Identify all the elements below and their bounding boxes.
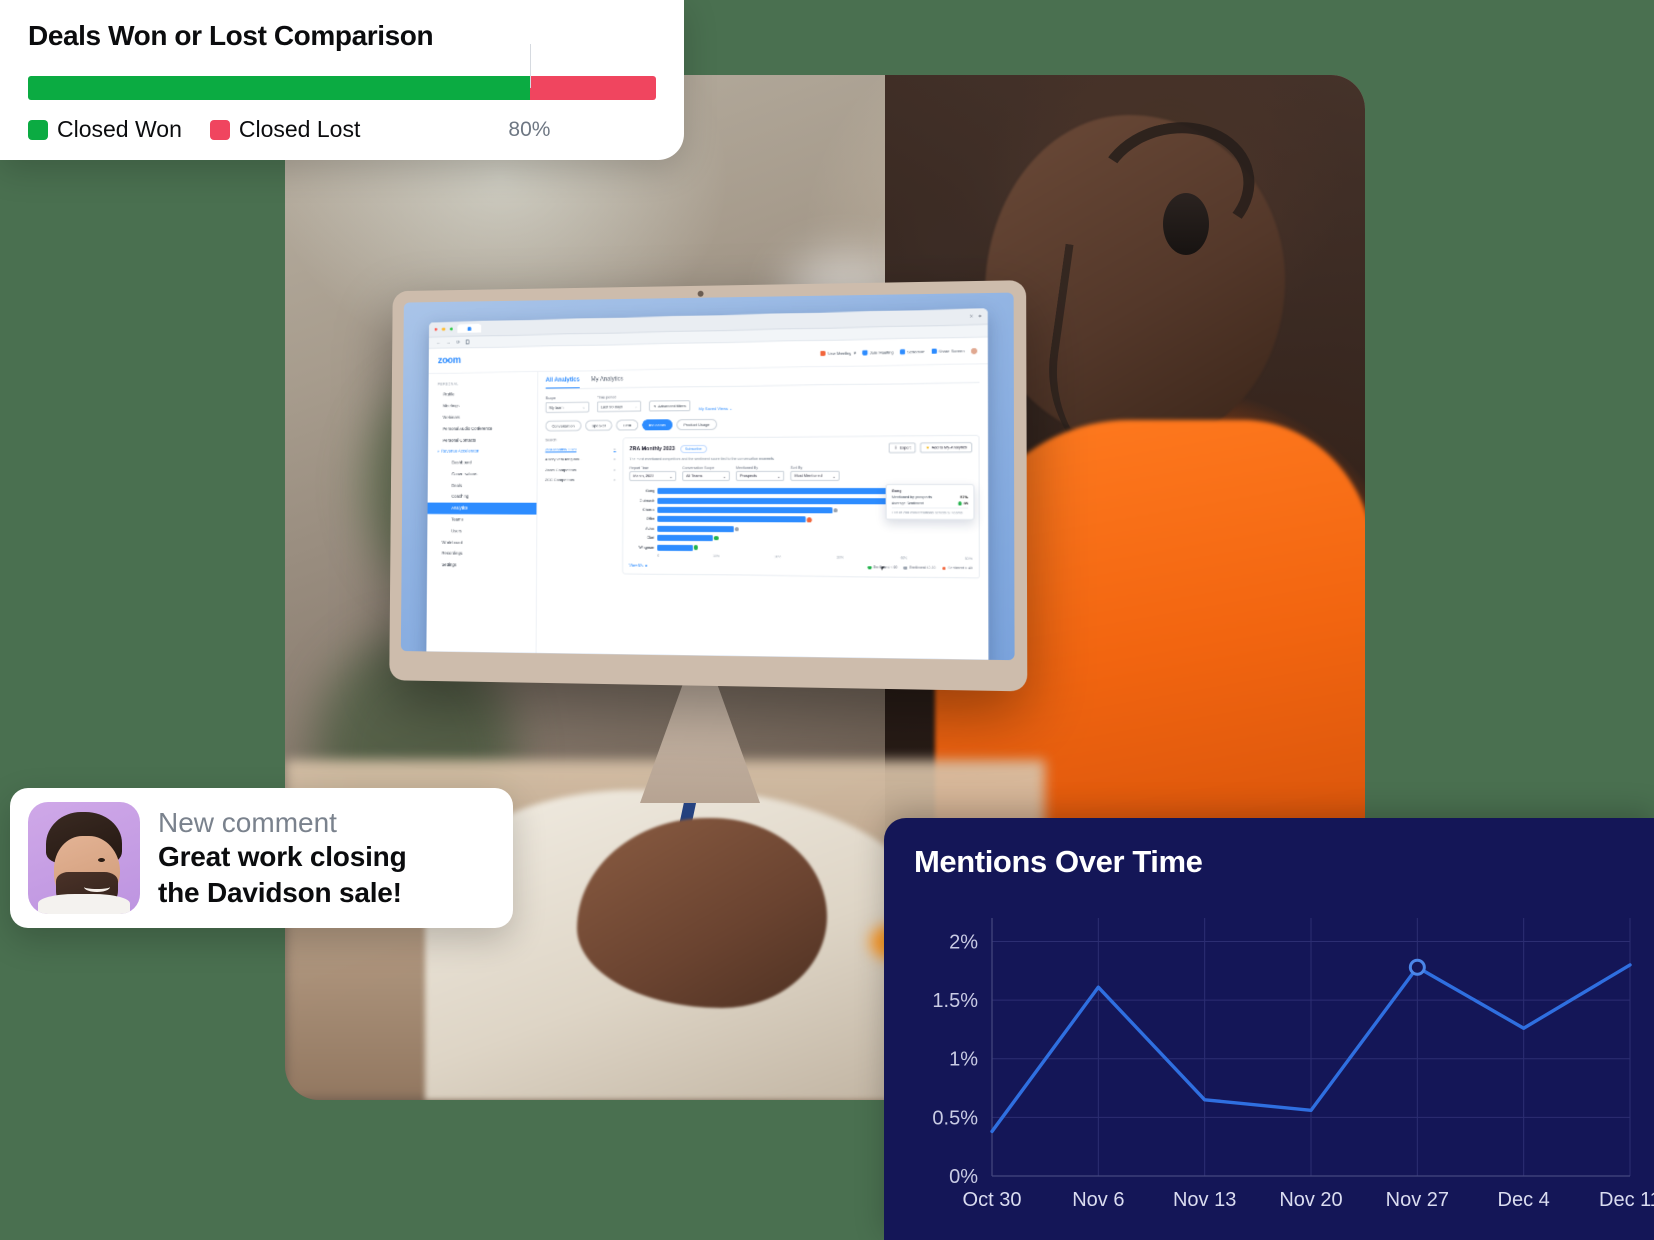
y-axis-tick: 0.5% [932,1107,978,1129]
zoom-web-app-window: × + ← → ⟳ zoom [426,308,988,660]
plus-square-icon [863,350,868,355]
bar-fill [658,497,918,504]
mentioned-by-value: Prospects [740,474,757,478]
close-icon[interactable]: × [614,467,616,472]
new-tab-icon[interactable]: + [978,313,981,319]
join-meeting-label: Join Meeting [870,350,894,356]
tab-close-icon[interactable]: × [970,313,973,319]
conversation-scope-field: Conversation Scope All Teams ⌄ [682,466,730,481]
avatar-shirt [38,894,130,914]
sidebar-item-personal-contacts[interactable]: Personal Contacts [428,433,537,445]
add-to-my-analytics-label: Add to My Analytics [932,445,967,449]
bar-chart-x-axis: 010%20%30%40%50% [629,553,972,561]
chevron-down-icon: ⌄ [723,474,726,479]
sort-by-value: Most Mentioned [795,474,823,478]
app-main: All Analytics My Analytics Scope My team… [536,364,988,660]
sidebar-item-users[interactable]: Users [427,525,536,537]
page-title: Deals Won or Lost Comparison [28,20,656,52]
scope-label: Scope [545,396,589,400]
mentions-line-chart-svg: 0%0.5%1%1.5%2%Oct 30Nov 6Nov 13Nov 20Nov… [914,904,1654,1222]
avatar-eye [98,858,105,862]
chevron-down-icon[interactable]: ∨ [853,350,856,355]
advanced-filters-button[interactable]: ▿ Advanced filters [649,400,691,411]
x-axis-tick: Nov 27 [1386,1189,1449,1211]
sentiment-dot-icon [694,545,698,549]
chip-speaker[interactable]: Speaker [585,420,613,431]
bar-track [657,526,972,534]
x-axis-tick: 40% [900,556,907,560]
y-axis-tick: 2% [949,931,978,953]
bar-row[interactable]: Aviso [629,525,972,533]
sentiment-dot-icon [714,536,718,540]
legend-label: Closed Lost [239,116,360,143]
sidebar-item-whiteboard[interactable]: Whiteboard [427,536,536,548]
avatar-smile [84,882,110,892]
comment-text-block: New comment Great work closing the David… [158,806,406,911]
tab-my-analytics[interactable]: My Analytics [591,377,623,388]
window-close-dot[interactable] [434,328,437,331]
chip-conversation[interactable]: Conversation [545,420,581,431]
chevron-down-icon: ⌄ [669,474,672,479]
analytics-tabs: All Analytics My Analytics [546,371,980,390]
legend-swatch [942,567,946,571]
bar-label: Aviso [629,526,654,530]
report-header: ZRA Monthly 2023 Subscribe ⇩ Export [629,442,972,454]
bar-label: Chorus [629,508,654,512]
report-card: ZRA Monthly 2023 Subscribe ⇩ Export [622,435,980,579]
mentioned-by-field: Mentioned By Prospects ⌄ [736,466,784,482]
sidebar-item-revenue-accelerator[interactable]: ∨Revenue Accelerator [428,445,537,457]
close-icon[interactable]: × [614,457,616,462]
legend-item-closed-lost: Closed Lost [210,116,360,143]
schedule-button[interactable]: Schedule [900,349,925,355]
report-time-field: Report Time March, 2023 ⌄ [629,466,676,481]
legend-swatch [904,566,908,570]
filter-bar: Scope My team ⌄ Time period [545,390,979,412]
chevron-down-icon: ⌄ [634,404,637,409]
export-button[interactable]: ⇩ Export [889,442,916,453]
time-period-field: Time period Last 90 days ⌄ [597,395,642,412]
chip-product-usage[interactable]: Product Usage [677,419,717,430]
bar-fill [657,516,806,523]
report-time-value: March, 2023 [633,474,654,478]
tooltip-sentiment-value: 85 [964,502,968,506]
bar-fill [657,526,733,532]
monitor-camera [698,291,704,297]
sort-by-select[interactable]: Most Mentioned ⌄ [790,471,839,481]
advanced-filters-label: Advanced filters [658,403,686,408]
sentiment-dot-icon [833,508,838,512]
header-actions: New Meeting ∨ Join Meeting Schedule [820,347,977,356]
chevron-down-icon: ⌄ [582,404,585,409]
legend-swatch [28,120,48,140]
chevron-down-icon: ⌄ [832,473,835,478]
close-icon[interactable]: × [614,477,616,482]
share-screen-icon [931,349,936,354]
report-time-label: Report Time [629,466,676,470]
tooltip-row: Average Sentiment 85 [892,501,968,505]
sort-by-field: Sort By Most Mentioned ⌄ [790,465,839,481]
deals-percent-tick [530,44,531,88]
tooltip-note: Out of 200 conversations across all team… [892,508,968,516]
forward-icon[interactable]: → [446,340,451,346]
browser-tab[interactable] [457,324,481,333]
bar-label: Gong [629,489,654,493]
comment-message-line-2: the Davidson sale! [158,875,406,911]
reload-icon[interactable]: ⟳ [456,339,460,345]
new-meeting-button[interactable]: New Meeting ∨ [820,350,856,356]
chip-indicators[interactable]: Indicators [642,419,673,430]
scope-select[interactable]: My team ⌄ [545,401,589,412]
bar-label: Clari [629,536,654,540]
x-axis-tick: Nov 13 [1173,1189,1236,1211]
mentions-over-time-card: Mentions Over Time 0%0.5%1%1.5%2%Oct 30N… [884,818,1654,1240]
search-item[interactable]: Zoom Competitors × [545,464,616,474]
content-split: Search ZRA Monthly 2023 × A very very lo… [544,435,979,579]
star-icon: ★ [926,445,930,450]
lock-icon [466,340,470,345]
app-sidebar: PERSONAL Profile Meetings Webinars Perso… [426,372,538,660]
conversation-scope-value: All Teams [686,474,702,478]
export-icon: ⇩ [894,445,897,450]
filter-icon: ▿ [654,403,656,408]
new-meeting-label: New Meeting [827,350,851,356]
search-item-label: ZCC Competitors [545,477,574,482]
sentiment-dot-icon [807,518,812,522]
tooltip-row-label: Mentioned by prospects [892,495,932,499]
tooltip-row-value: 85 [958,502,968,506]
scope-value: My team [549,404,564,409]
chevron-down-icon[interactable]: ∨ [437,450,439,454]
deals-percent-label: 80% [508,118,550,142]
share-screen-button[interactable]: Share Screen [931,348,964,354]
bar-fill [657,544,692,550]
sidebar-item-deals[interactable]: Deals [428,479,537,490]
deals-legend: Closed Won Closed Lost 80% [28,116,656,143]
sort-by-label: Sort By [790,465,839,469]
report-title: ZRA Monthly 2023 [629,446,674,452]
mentioned-by-select[interactable]: Prospects ⌄ [736,471,784,481]
sidebar-item-conversations[interactable]: Conversations [428,468,537,480]
y-axis-tick: 1% [949,1049,978,1071]
close-icon[interactable]: × [614,447,616,452]
sidebar-item-dashboard[interactable]: Dashboard [428,456,537,468]
legend-item: Sentiment > 40 [942,566,972,571]
legend-item: Sentiment 40-60 [904,566,936,571]
tooltip-row: Mentioned by prospects 57% [892,495,968,499]
bar-row[interactable]: Clari [629,535,972,544]
closed-won-segment [28,76,530,100]
tooltip-row-label: Average Sentiment [892,501,924,505]
x-axis-tick: 50% [965,557,972,561]
composite-stage: × + ← → ⟳ zoom [0,0,1654,1240]
mentions-chart: 0%0.5%1%1.5%2%Oct 30Nov 6Nov 13Nov 20Nov… [914,904,1654,1222]
bar-row[interactable]: Wingman [629,544,972,553]
zoom-logo[interactable]: zoom [438,355,461,366]
legend-label: Sentiment 40-60 [909,566,935,570]
legend-swatch [868,566,872,570]
scope-field: Scope My team ⌄ [545,396,589,413]
legend-label: Sentiment > 40 [948,566,973,570]
monitor-bezel: × + ← → ⟳ zoom [389,280,1027,691]
tab-all-analytics[interactable]: All Analytics [546,377,580,388]
bar-label: Wingman [629,545,654,549]
deals-won-lost-card: Deals Won or Lost Comparison Closed Won … [0,0,684,160]
subscribe-button[interactable]: Subscribe [680,445,707,453]
bar-tooltip: Gong Mentioned by prospects 57% Average … [885,483,974,520]
search-item-label: ZRA Monthly 2023 [545,447,576,452]
bar-label: Outreach [629,498,654,502]
conversation-scope-label: Conversation Scope [682,466,730,470]
report-time-select[interactable]: March, 2023 ⌄ [629,471,676,481]
export-label: Export [899,445,911,449]
search-item-label: Zoom Competitors [545,467,576,472]
sidebar-item-coaching[interactable]: Coaching [428,491,537,503]
bar-track [657,535,972,543]
mentioned-by-label: Mentioned By [736,466,784,470]
comment-label: New comment [158,806,406,839]
y-axis-tick: 0% [949,1166,978,1188]
app-body: PERSONAL Profile Meetings Webinars Perso… [426,364,988,660]
search-label: Search [545,437,616,441]
x-axis-tick: Oct 30 [963,1189,1022,1211]
category-chips: Conversation Speaker Deal Indicators Pro… [545,416,979,431]
bar-fill [657,535,713,541]
view-more-link[interactable]: View More [629,562,647,567]
sidebar-item-label: Revenue Accelerator [441,449,479,454]
monitor-screen: × + ← → ⟳ zoom [401,293,1015,661]
join-meeting-button[interactable]: Join Meeting [863,350,894,356]
x-axis-tick: 10% [713,554,720,558]
search-item-label: A very very long indi... [545,457,582,462]
tooltip-title: Gong [892,489,968,493]
video-camera-icon [820,351,825,356]
sentiment-dot-icon [735,527,739,531]
search-panel: Search ZRA Monthly 2023 × A very very lo… [544,437,616,574]
chip-deal[interactable]: Deal [616,419,638,430]
share-screen-label: Share Screen [938,348,964,354]
legend-item-closed-won: Closed Won [28,116,182,143]
sidebar-item-settings[interactable]: Settings [427,559,536,572]
report-description: The most mentioned competitors and the s… [629,456,972,461]
x-axis-tick: 30% [837,555,844,559]
sidebar-item-analytics[interactable]: Analytics [427,502,536,514]
bar-label: Offer [629,517,654,521]
chart-title: Mentions Over Time [914,844,1654,880]
closed-lost-segment [530,76,656,100]
x-axis-tick: 20% [774,555,781,559]
x-axis-tick: Nov 20 [1279,1189,1342,1211]
legend-label: Closed Won [57,116,182,143]
highlight-data-point[interactable] [1410,960,1424,974]
search-item[interactable]: ZRA Monthly 2023 × [545,444,616,454]
search-item[interactable]: ZCC Competitors × [545,474,616,484]
calendar-icon [900,349,905,354]
search-item[interactable]: A very very long indi... × [545,454,616,464]
desktop-monitor: × + ← → ⟳ zoom [380,285,1020,685]
time-period-value: Last 90 days [601,404,623,409]
bar-fill [658,507,833,514]
back-icon[interactable]: ← [436,340,441,346]
window-maximize-dot[interactable] [450,327,453,330]
x-axis-tick: Nov 6 [1072,1189,1124,1211]
tab-favicon-icon [468,327,472,331]
report-footer: View More Sentiment < 60Sentiment 40-60S… [629,562,972,571]
report-header-buttons: ⇩ Export ★ Add to My Analytics [889,442,972,453]
sentiment-dot-icon [958,502,962,506]
comment-message-line-1: Great work closing [158,839,406,875]
x-axis-tick: Dec 11 [1599,1189,1654,1211]
chevron-down-icon: ⌄ [777,474,780,479]
bar-track [657,544,972,553]
x-axis-tick: Dec 4 [1498,1189,1550,1211]
conversation-scope-select[interactable]: All Teams ⌄ [682,471,730,481]
add-to-my-analytics-button[interactable]: ★ Add to My Analytics [920,442,972,453]
my-saved-views-label: My Saved Views [699,405,728,410]
sidebar-item-teams[interactable]: Teams [427,514,536,526]
my-saved-views-link[interactable]: My Saved Views ⌄ [699,405,733,410]
report-filters: Report Time March, 2023 ⌄ Co [629,465,972,481]
new-comment-card[interactable]: New comment Great work closing the David… [10,788,513,928]
avatar [28,802,140,914]
avatar[interactable] [971,347,977,353]
x-axis-tick: 0 [657,554,659,558]
time-period-select[interactable]: Last 90 days ⌄ [597,400,642,411]
window-minimize-dot[interactable] [442,328,445,331]
tooltip-row-value: 57% [960,495,968,499]
deals-progress-bar [28,76,656,100]
sidebar-item-personal-audio-conference[interactable]: Personal Audio Conference [428,422,537,434]
y-axis-tick: 1.5% [932,990,978,1012]
schedule-label: Schedule [907,349,925,354]
time-period-label: Time period [597,395,641,400]
headset-earcup [1163,193,1209,255]
report-title-group: ZRA Monthly 2023 Subscribe [629,446,706,452]
legend-swatch [210,120,230,140]
